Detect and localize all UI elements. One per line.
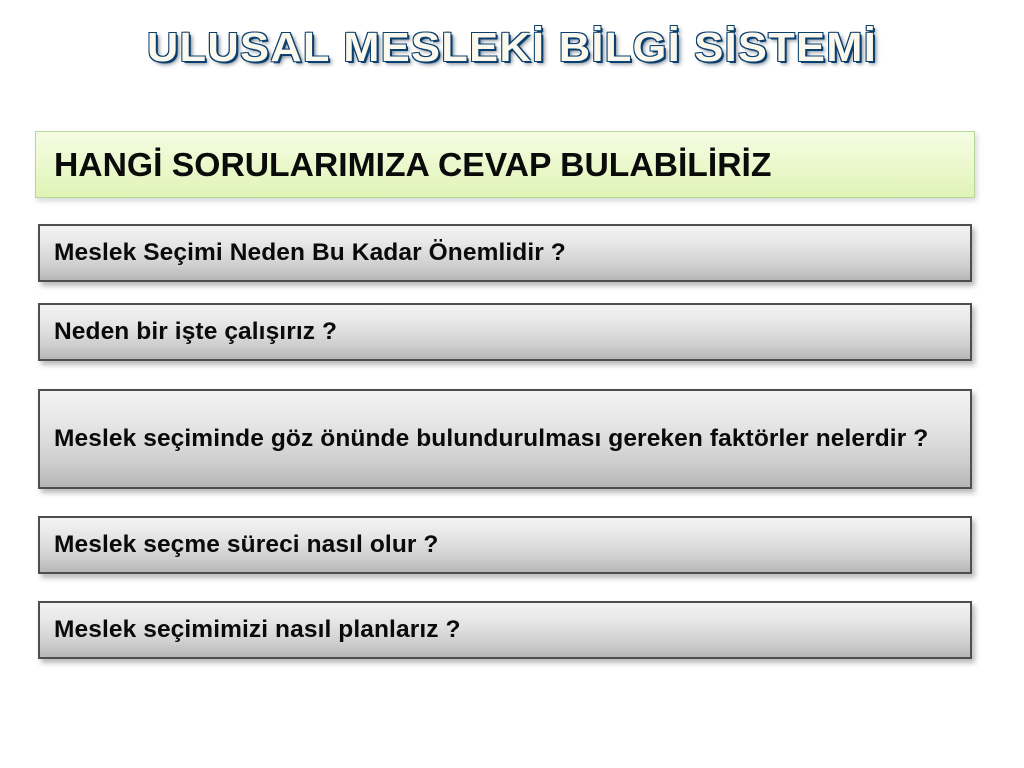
section-title-label: HANGİ SORULARIMIZA CEVAP BULABİLİRİZ	[54, 146, 771, 184]
page-title: ULUSAL MESLEKİ BİLGİ SİSTEMİ	[0, 24, 1024, 71]
question-bar-1[interactable]: Meslek Seçimi Neden Bu Kadar Önemlidir ?	[38, 224, 972, 282]
question-label-4: Meslek seçme süreci nasıl olur ?	[40, 530, 451, 560]
question-bar-5[interactable]: Meslek seçimimizi nasıl planlarız ?	[38, 601, 972, 659]
section-title-box: HANGİ SORULARIMIZA CEVAP BULABİLİRİZ	[35, 131, 975, 198]
question-bar-3[interactable]: Meslek seçiminde göz önünde bulundurulma…	[38, 389, 972, 489]
question-label-3: Meslek seçiminde göz önünde bulundurulma…	[40, 424, 940, 454]
question-bar-4[interactable]: Meslek seçme süreci nasıl olur ?	[38, 516, 972, 574]
question-label-5: Meslek seçimimizi nasıl planlarız ?	[40, 615, 473, 645]
question-label-1: Meslek Seçimi Neden Bu Kadar Önemlidir ?	[40, 238, 578, 268]
header-banner: ULUSAL MESLEKİ BİLGİ SİSTEMİ	[0, 0, 1024, 108]
question-bar-2[interactable]: Neden bir işte çalışırız ?	[38, 303, 972, 361]
question-label-2: Neden bir işte çalışırız ?	[40, 317, 349, 347]
